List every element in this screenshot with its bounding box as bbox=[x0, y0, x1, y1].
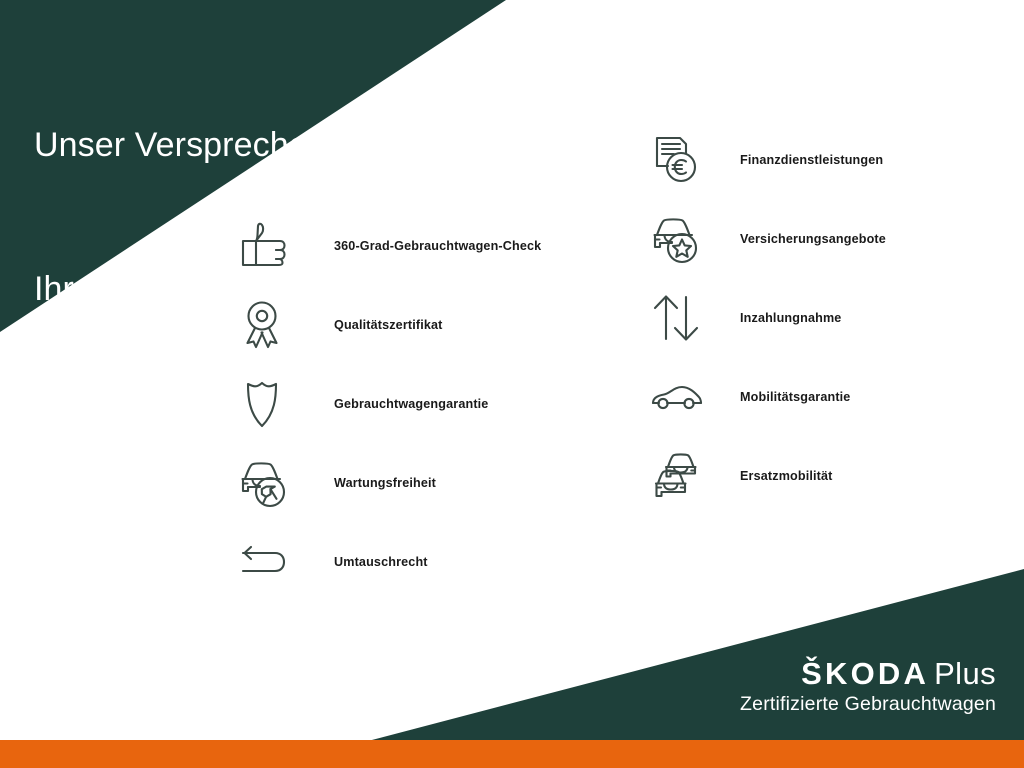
feature-label: Ersatzmobilität bbox=[740, 469, 833, 483]
feature-label: Versicherungsangebote bbox=[740, 232, 886, 246]
feature-item-maintenance: Wartungsfreiheit bbox=[236, 443, 636, 522]
logo-wordmark: ŠKODAPlus bbox=[740, 658, 996, 691]
logo-subline: Zertifizierte Gebrauchtwagen bbox=[740, 693, 996, 716]
logo-suffix-text: Plus bbox=[934, 656, 996, 691]
car-star-icon bbox=[648, 208, 710, 270]
feature-label: Wartungsfreiheit bbox=[334, 476, 436, 490]
feature-item-replacement-mobility: Ersatzmobilität bbox=[648, 436, 1024, 515]
feature-item-trade-in: Inzahlungnahme bbox=[648, 278, 1024, 357]
feature-item-mobility-guarantee: Mobilitätsgarantie bbox=[648, 357, 1024, 436]
feature-item-financial-services: Finanzdienstleistungen bbox=[648, 120, 1024, 199]
document-euro-icon bbox=[648, 129, 710, 191]
up-down-arrows-icon bbox=[648, 287, 710, 349]
headline-line-1: Unser Versprechen. bbox=[34, 121, 336, 169]
award-rosette-icon bbox=[236, 294, 298, 356]
promo-banner: Unser Versprechen. Ihr Plus. 360-Grad-Ge… bbox=[0, 0, 1024, 768]
feature-item-insurance: Versicherungsangebote bbox=[648, 199, 1024, 278]
feature-label: Gebrauchtwagengarantie bbox=[334, 397, 488, 411]
feature-list-left: 360-Grad-Gebrauchtwagen-Check Qualitätsz… bbox=[236, 206, 636, 601]
car-side-icon bbox=[648, 366, 710, 428]
skoda-plus-logo: ŠKODAPlus Zertifizierte Gebrauchtwagen bbox=[740, 658, 996, 716]
feature-item-quality-certificate: Qualitätszertifikat bbox=[236, 285, 636, 364]
feature-item-warranty: Gebrauchtwagengarantie bbox=[236, 364, 636, 443]
feature-label: Finanzdienstleistungen bbox=[740, 153, 883, 167]
shield-icon bbox=[236, 373, 298, 435]
feature-list-right: Finanzdienstleistungen Versicherungsange… bbox=[648, 120, 1024, 515]
logo-brand-text: ŠKODA bbox=[801, 656, 929, 691]
feature-item-360-check: 360-Grad-Gebrauchtwagen-Check bbox=[236, 206, 636, 285]
feature-label: Inzahlungnahme bbox=[740, 311, 841, 325]
feature-label: Mobilitätsgarantie bbox=[740, 390, 850, 404]
feature-label: Umtauschrecht bbox=[334, 555, 428, 569]
orange-accent-bar bbox=[0, 740, 1024, 768]
return-arrow-icon bbox=[236, 531, 298, 593]
feature-label: Qualitätszertifikat bbox=[334, 318, 443, 332]
two-cars-icon bbox=[648, 445, 710, 507]
feature-item-return-right: Umtauschrecht bbox=[236, 522, 636, 601]
thumbs-up-icon bbox=[236, 215, 298, 277]
feature-label: 360-Grad-Gebrauchtwagen-Check bbox=[334, 239, 541, 253]
car-wrench-icon bbox=[236, 452, 298, 514]
